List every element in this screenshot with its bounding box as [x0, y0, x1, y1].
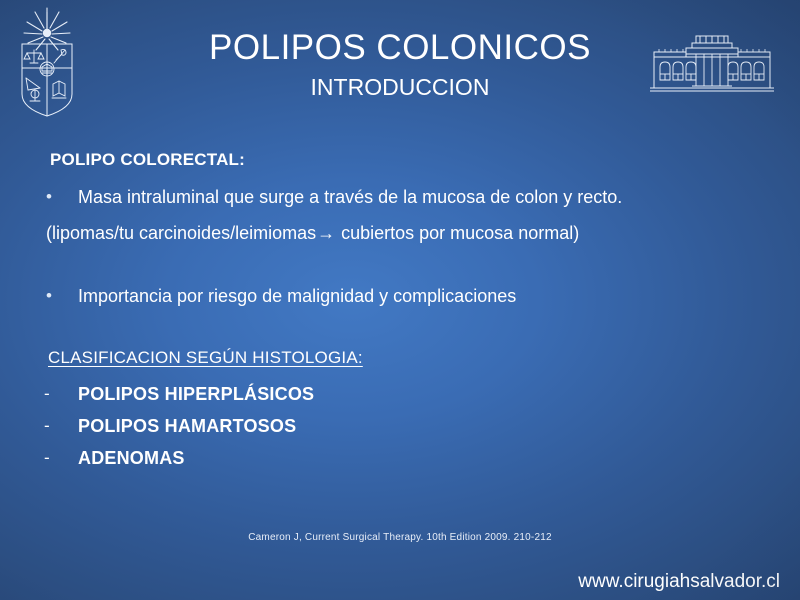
slide-header: POLIPOS COLONICOS INTRODUCCION — [0, 0, 800, 120]
classification-item-1: - POLIPOS HIPERPLÁSICOS — [44, 380, 644, 408]
classification-heading: CLASIFICACION SEGÚN HISTOLOGIA: — [48, 348, 363, 368]
classification-label-1: POLIPOS HIPERPLÁSICOS — [78, 384, 314, 404]
casa-central-building-icon — [648, 34, 776, 96]
bullet-text-1-line2-pre: (lipomas/tu carcinoides/leimiomas — [46, 223, 316, 243]
slide-title: POLIPOS COLONICOS — [120, 26, 680, 70]
citation-text: Cameron J, Current Surgical Therapy. 10t… — [0, 531, 800, 545]
classification-item-3: - ADENOMAS — [44, 444, 644, 472]
classification-item-2: - POLIPOS HAMARTOSOS — [44, 412, 644, 440]
bullet-dot-icon: • — [46, 282, 64, 310]
bullet-item-2: • Importancia por riesgo de malignidad y… — [46, 282, 756, 310]
bullet-text-1-line2-post: cubiertos por mucosa normal) — [336, 223, 579, 243]
bullet-dot-icon: • — [46, 183, 64, 211]
website-url: www.cirugiahsalvador.cl — [578, 570, 780, 594]
bullet-text-2: Importancia por riesgo de malignidad y c… — [78, 286, 516, 306]
bullet-text-1-line1: Masa intraluminal que surge a través de … — [78, 187, 622, 207]
slide-subtitle: INTRODUCCION — [120, 72, 680, 102]
lead-heading: POLIPO COLORECTAL: — [50, 150, 245, 170]
classification-label-3: ADENOMAS — [78, 448, 185, 468]
bullet-item-1: • Masa intraluminal que surge a través d… — [46, 183, 756, 247]
title-block: POLIPOS COLONICOS INTRODUCCION — [120, 26, 680, 102]
universidad-de-chile-crest-icon — [16, 6, 78, 118]
dash-marker-icon: - — [44, 380, 64, 408]
dash-marker-icon: - — [44, 412, 64, 440]
right-arrow-icon: → — [316, 223, 336, 243]
bullet-text-1: Masa intraluminal que surge a través de … — [46, 187, 756, 247]
dash-marker-icon: - — [44, 444, 64, 472]
bullet-text-1-line2: (lipomas/tu carcinoides/leimiomas→ cubie… — [46, 219, 756, 247]
slide-canvas: POLIPOS COLONICOS INTRODUCCION — [0, 0, 800, 600]
classification-label-2: POLIPOS HAMARTOSOS — [78, 416, 296, 436]
